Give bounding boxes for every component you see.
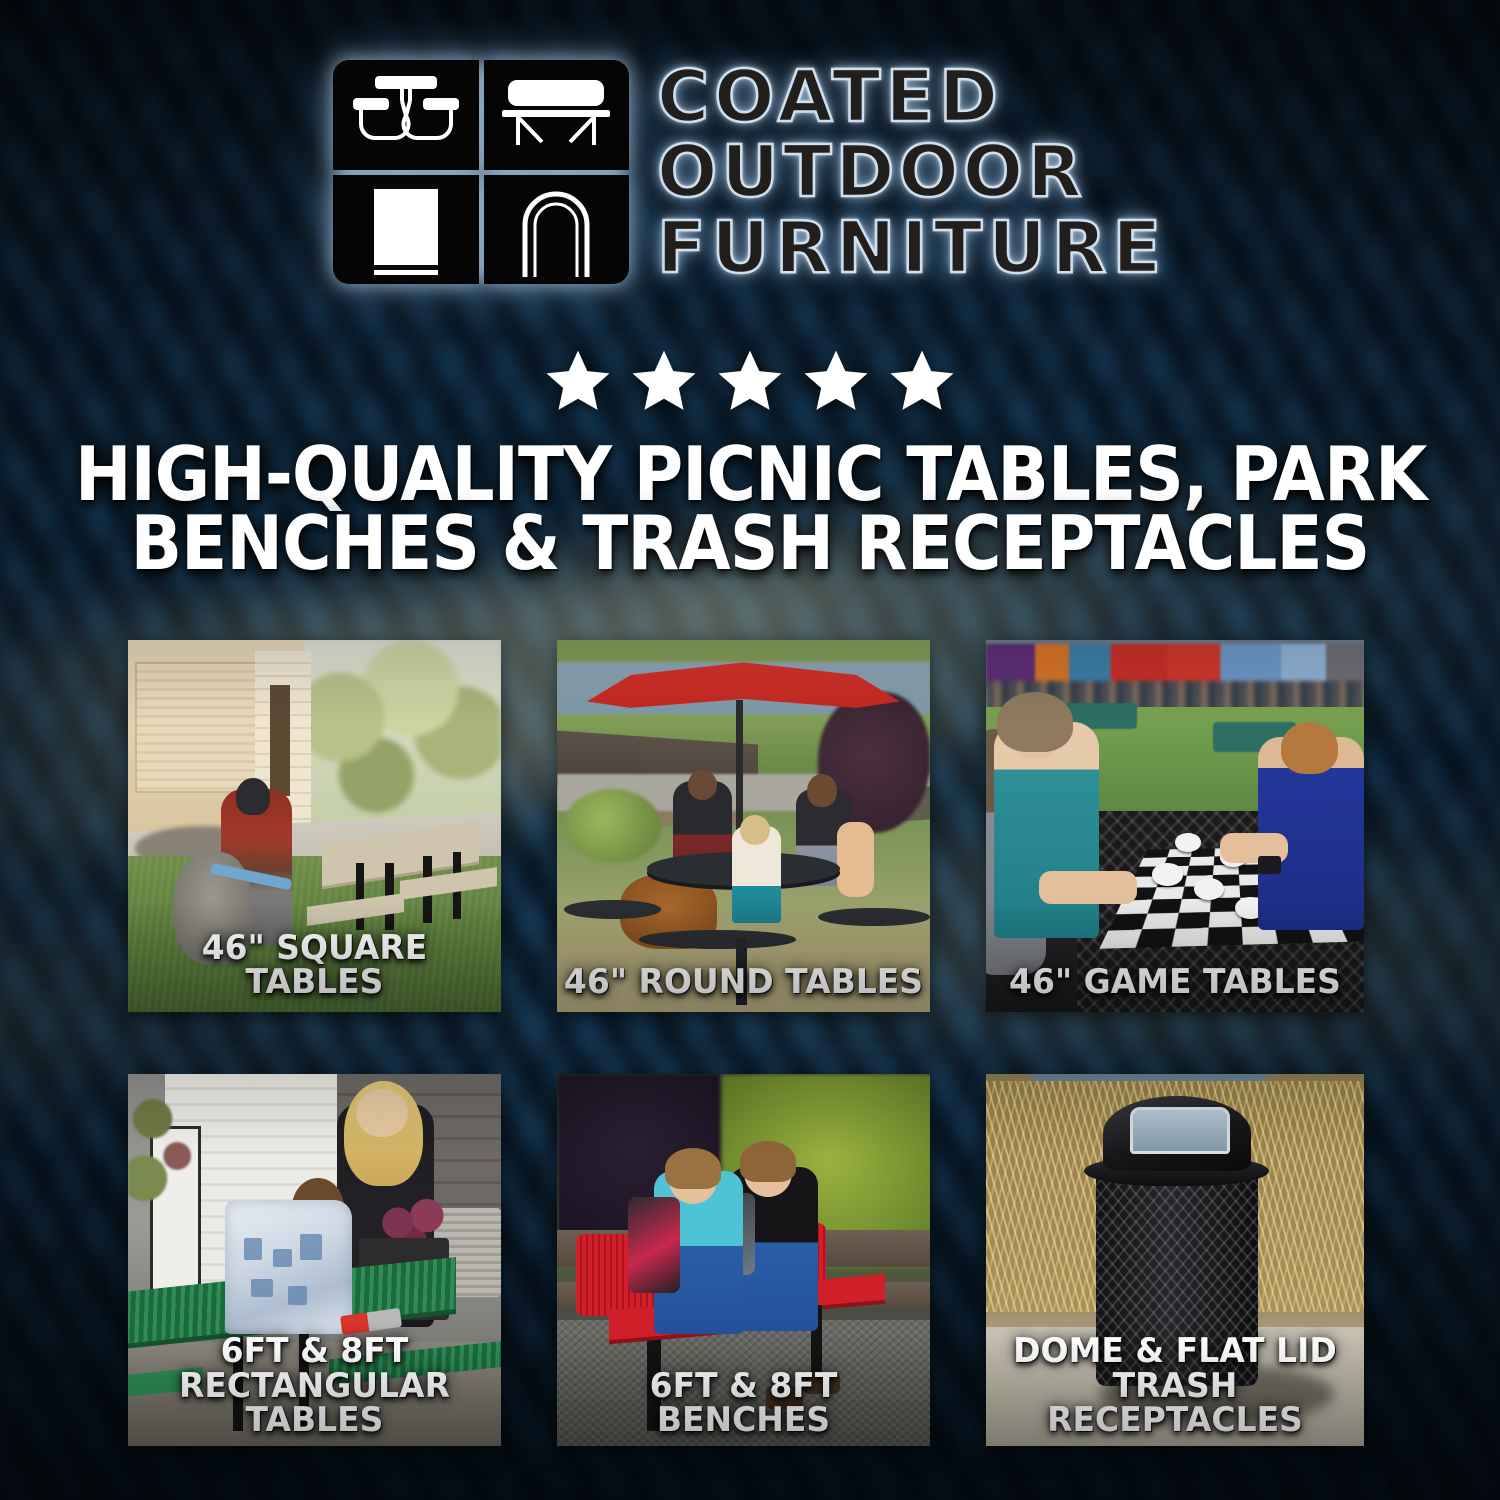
product-caption-round-tables: 46" ROUND TABLES [563, 965, 925, 1000]
product-tile-rectangular-tables[interactable]: 6FT & 8FT RECTANGULAR TABLES [128, 1074, 501, 1446]
caption-line-2: TRASH RECEPTACLES [992, 1369, 1359, 1438]
star-rating [0, 346, 1500, 416]
wordmark-line-furniture: FURNITURE [657, 213, 1167, 283]
brand-wordmark: COATED OUTDOOR FURNITURE [657, 62, 1167, 283]
wordmark-line-outdoor: OUTDOOR [657, 137, 1167, 207]
product-caption-rectangular-tables: 6FT & 8FT RECTANGULAR TABLES [134, 1334, 496, 1438]
product-tile-round-tables[interactable]: 46" ROUND TABLES [557, 640, 930, 1012]
promo-banner: COATED OUTDOOR FURNITURE HIGH-QUALITY PI… [0, 0, 1500, 1500]
headline: HIGH-QUALITY PICNIC TABLES, PARK BENCHES… [0, 440, 1500, 578]
brand-logo-mark [333, 60, 629, 284]
star-icon [886, 346, 958, 416]
product-caption-benches: 6FT & 8FT BENCHES [563, 1369, 925, 1438]
product-grid: 46" SQUARE TABLES [128, 640, 1373, 1446]
caption-line-2: BENCHES [563, 1403, 925, 1438]
product-tile-game-tables[interactable]: 46" GAME TABLES [986, 640, 1364, 1012]
headline-line-2: BENCHES & TRASH RECEPTACLES [75, 509, 1425, 578]
bike-rack-arch-icon [484, 175, 630, 285]
product-tile-benches[interactable]: 6FT & 8FT BENCHES [557, 1074, 930, 1446]
caption-line-1: DOME & FLAT LID [992, 1334, 1359, 1369]
caption-line-2: RECTANGULAR TABLES [134, 1369, 496, 1438]
product-caption-square-tables: 46" SQUARE TABLES [134, 931, 496, 1000]
product-tile-square-tables[interactable]: 46" SQUARE TABLES [128, 640, 501, 1012]
star-icon [542, 346, 614, 416]
product-photo-game-tables [986, 640, 1364, 1012]
product-caption-trash-receptacles: DOME & FLAT LID TRASH RECEPTACLES [992, 1334, 1359, 1438]
star-icon [800, 346, 872, 416]
product-tile-trash-receptacles[interactable]: DOME & FLAT LID TRASH RECEPTACLES [986, 1074, 1364, 1446]
wordmark-line-coated: COATED [657, 62, 1167, 132]
product-caption-game-tables: 46" GAME TABLES [992, 965, 1359, 1000]
caption-line-1: 6FT & 8FT [563, 1369, 925, 1404]
star-icon [714, 346, 786, 416]
bench-icon [484, 60, 630, 170]
caption-line-1: 6FT & 8FT [134, 1334, 496, 1369]
picnic-table-icon [333, 60, 479, 170]
product-photo-round-tables [557, 640, 930, 1012]
brand-header: COATED OUTDOOR FURNITURE [0, 60, 1500, 284]
star-icon [628, 346, 700, 416]
logo-row: COATED OUTDOOR FURNITURE [333, 60, 1167, 284]
trash-receptacle-icon [333, 175, 479, 285]
